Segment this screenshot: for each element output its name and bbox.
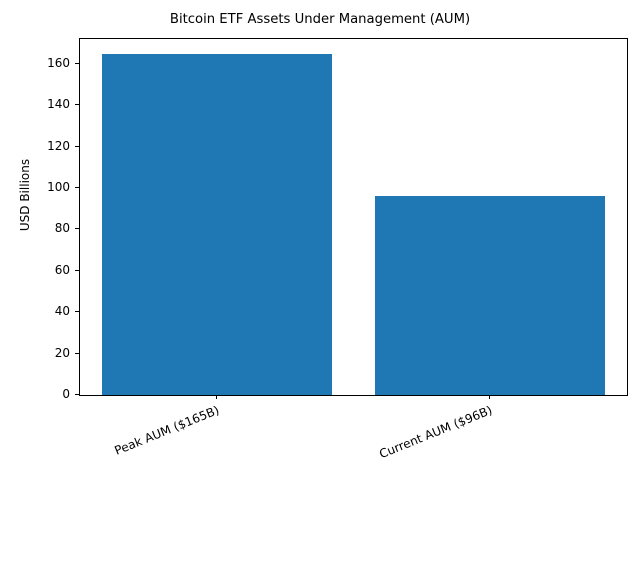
- chart-figure: Bitcoin ETF Assets Under Management (AUM…: [0, 0, 640, 480]
- x-axis-tick-mark: [489, 395, 490, 399]
- bars-container: [80, 39, 627, 395]
- y-axis-tick-label: 80: [55, 222, 70, 234]
- y-axis-tick-label: 140: [47, 98, 70, 110]
- bar: [102, 54, 332, 396]
- y-axis-label: USD Billions: [18, 145, 32, 245]
- y-axis-tick-label: 0: [62, 388, 70, 400]
- y-axis-tick-label: 60: [55, 264, 70, 276]
- y-axis-tick-label: 40: [55, 305, 70, 317]
- bar: [375, 196, 605, 395]
- y-axis-tick-label: 20: [55, 347, 70, 359]
- y-axis-tick-label: 120: [47, 140, 70, 152]
- x-axis-tick-label: Peak AUM ($165B): [0, 403, 221, 566]
- plot-area: [79, 38, 628, 396]
- chart-title: Bitcoin ETF Assets Under Management (AUM…: [0, 12, 640, 28]
- y-axis-tick-label: 100: [47, 181, 70, 193]
- y-axis-tick-label: 160: [47, 57, 70, 69]
- x-axis-tick-mark: [216, 395, 217, 399]
